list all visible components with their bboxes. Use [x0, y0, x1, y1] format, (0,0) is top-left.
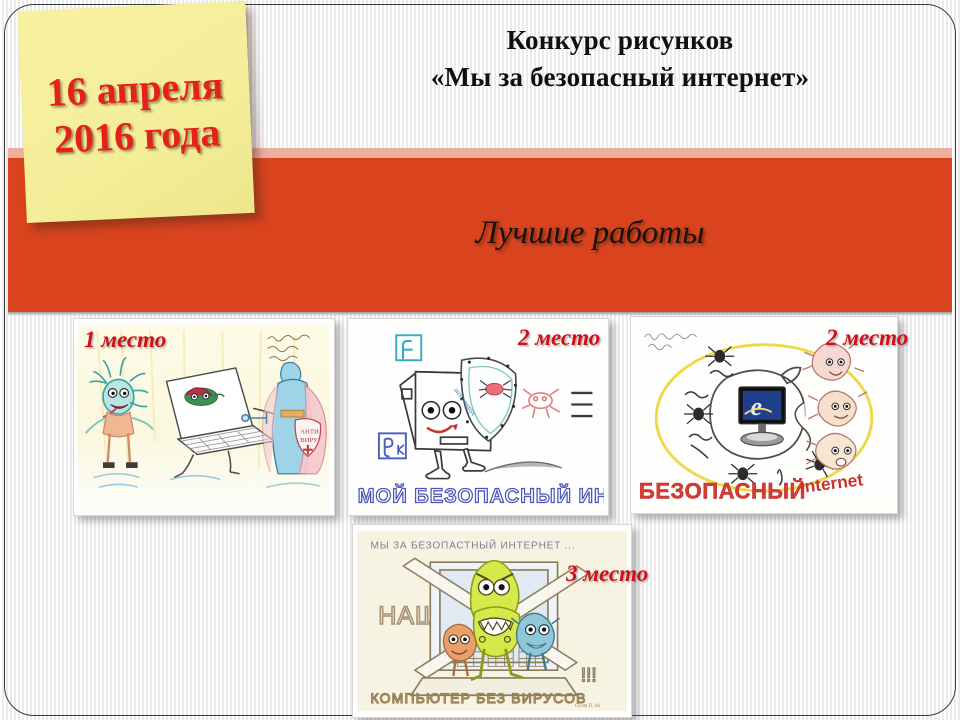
- artwork-image-4: МЫ ЗА БЕЗОПАСТНЫЙ ИНТЕРНЕТ ... НАШ: [357, 529, 627, 713]
- svg-text:!!!: !!!: [581, 666, 597, 687]
- artwork-image-2: анти вирус МОЙ Б: [352, 323, 604, 511]
- svg-text:АНТИ: АНТИ: [300, 428, 319, 435]
- place-label-1: 1 место: [84, 327, 166, 353]
- slide-canvas: Конкурс рисунков «Мы за безопасный интер…: [0, 0, 960, 720]
- sticky-note-line-1: 16 апреля: [46, 61, 225, 116]
- page-title: Конкурс рисунков «Мы за безопасный интер…: [300, 22, 940, 97]
- title-line-2: «Мы за безопасный интернет»: [300, 59, 940, 96]
- section-subtitle: Лучшие работы: [300, 215, 880, 252]
- svg-text:БЕЗОПАСНЫЙ: БЕЗОПАСНЫЙ: [639, 479, 806, 504]
- title-line-1: Конкурс рисунков: [300, 22, 940, 59]
- svg-text:Сухов П. 4А: Сухов П. 4А: [575, 704, 601, 709]
- artwork-card-4[interactable]: МЫ ЗА БЕЗОПАСТНЫЙ ИНТЕРНЕТ ... НАШ: [352, 524, 632, 718]
- svg-text:МОЙ БЕЗОПАСНЫЙ ИНТЕРНЕТ: МОЙ БЕЗОПАСНЫЙ ИНТЕРНЕТ: [358, 484, 604, 508]
- place-label-3: 2 место: [826, 325, 908, 351]
- svg-text:МЫ ЗА БЕЗОПАСТНЫЙ ИНТЕРНЕТ ...: МЫ ЗА БЕЗОПАСТНЫЙ ИНТЕРНЕТ ...: [371, 539, 576, 552]
- place-label-4: 3 место: [566, 561, 648, 587]
- place-label-2: 2 место: [518, 325, 600, 351]
- svg-text:ВИРУ: ВИРУ: [300, 437, 318, 444]
- svg-text:КОМПЬЮТЕР БЕЗ ВИРУСОВ: КОМПЬЮТЕР БЕЗ ВИРУСОВ: [371, 690, 587, 706]
- sticky-note-date: 16 апреля 2016 года: [17, 1, 254, 223]
- sticky-note-line-2: 2016 года: [53, 108, 221, 163]
- svg-text:e: e: [751, 392, 763, 421]
